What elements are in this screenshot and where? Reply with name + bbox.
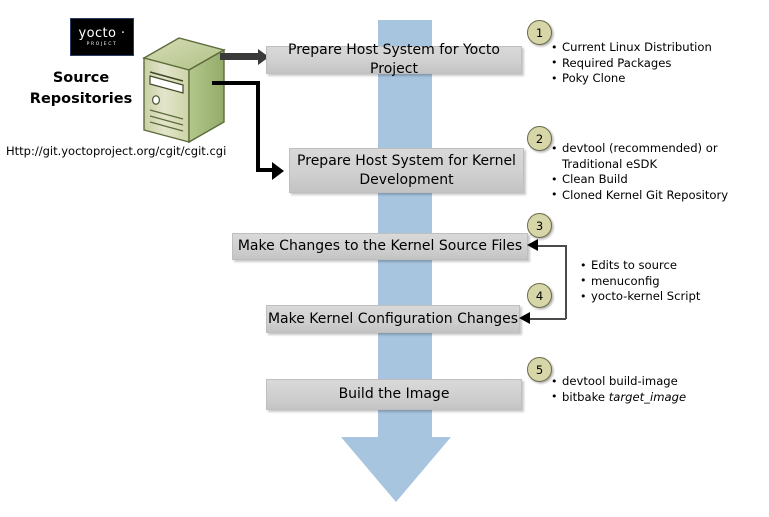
yocto-project-logo: yocto · PROJECT (70, 18, 134, 56)
note-item: Required Packages (551, 56, 766, 72)
note-item: yocto-kernel Script (580, 289, 760, 305)
notes-step-1: Current Linux Distribution Required Pack… (551, 40, 766, 87)
connector-server-to-step2-arrowhead (272, 162, 284, 180)
step-circle-3-number: 3 (536, 219, 543, 233)
note-item: Cloned Kernel Git Repository (551, 188, 759, 204)
process-box-step-3[interactable]: Make Changes to the Kernel Source Files (232, 233, 528, 260)
step-circle-5: 5 (527, 357, 552, 382)
diagram-canvas: yocto · PROJECT Source Repositories Http… (0, 0, 769, 517)
source-repositories-label: Source Repositories (26, 68, 136, 110)
logo-subtext: PROJECT (87, 41, 118, 48)
note-item: devtool (recommended) or Traditional eSD… (551, 141, 759, 172)
source-label-line1: Source (26, 68, 136, 89)
connector-server-to-step2-vertical (256, 81, 260, 172)
process-box-step-4[interactable]: Make Kernel Configuration Changes (266, 305, 520, 333)
note-item: Current Linux Distribution (551, 40, 766, 56)
process-box-step-1-label: Prepare Host System for Yocto Project (267, 41, 521, 79)
feedback-bracket-arrowhead-step3 (527, 239, 538, 251)
note-item: Clean Build (551, 172, 759, 188)
step-circle-5-number: 5 (536, 363, 543, 377)
connector-server-to-step1-line (220, 53, 260, 60)
note-item: Poky Clone (551, 71, 766, 87)
step-circle-4-number: 4 (536, 289, 543, 303)
notes-steps-3-and-4: Edits to source menuconfig yocto-kernel … (580, 258, 760, 305)
feedback-bracket-vertical (565, 245, 567, 319)
process-box-step-4-label: Make Kernel Configuration Changes (268, 310, 518, 329)
notes-step-2: devtool (recommended) or Traditional eSD… (551, 141, 759, 203)
note-item: devtool build-image (551, 374, 751, 390)
feedback-bracket-arrowhead-step4 (519, 312, 530, 324)
process-box-step-5-label: Build the Image (339, 385, 450, 404)
step-circle-2-number: 2 (536, 132, 543, 146)
step-circle-4: 4 (527, 283, 552, 308)
process-box-step-5[interactable]: Build the Image (266, 379, 522, 410)
note-item-bitbake: bitbake target_image (551, 390, 751, 406)
note-item: menuconfig (580, 274, 760, 290)
step-circle-1-number: 1 (536, 26, 543, 40)
process-box-step-1[interactable]: Prepare Host System for Yocto Project (266, 46, 522, 74)
logo-wordmark: yocto · (79, 27, 126, 40)
note-item: Edits to source (580, 258, 760, 274)
note-bitbake-target: target_image (609, 390, 686, 404)
step-circle-2: 2 (527, 126, 552, 151)
workflow-spine (378, 20, 432, 440)
feedback-bracket-bottom-horizontal (530, 318, 566, 320)
step-circle-1: 1 (527, 20, 552, 45)
process-box-step-2[interactable]: Prepare Host System for Kernel Developme… (289, 148, 524, 193)
process-box-step-3-label: Make Changes to the Kernel Source Files (238, 237, 522, 256)
step-circle-3: 3 (527, 213, 552, 238)
process-box-step-2-label: Prepare Host System for Kernel Developme… (290, 152, 523, 190)
server-tower-icon (136, 36, 228, 146)
feedback-bracket-top-horizontal (538, 245, 566, 247)
note-bitbake-prefix: bitbake (562, 390, 609, 404)
source-label-line2: Repositories (26, 89, 136, 110)
notes-step-5: devtool build-image bitbake target_image (551, 374, 751, 405)
workflow-spine-arrowhead (341, 437, 451, 502)
connector-server-to-step2-horizontal-top (212, 81, 260, 85)
